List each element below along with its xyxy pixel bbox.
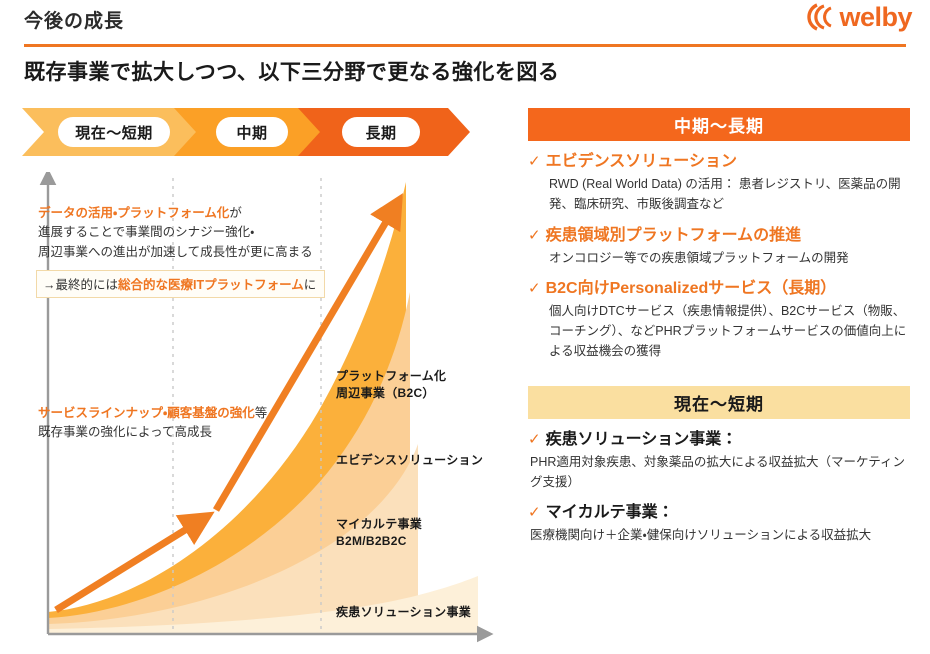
- note2-rest: 等: [255, 406, 268, 420]
- slide-subtitle: 既存事業で拡大しつつ、以下三分野で更なる強化を図る: [24, 56, 559, 86]
- note1-rest: が: [229, 206, 242, 220]
- box-prefix: →最終的には: [43, 278, 118, 292]
- layer-label-evidence: エビデンスソリューション: [336, 452, 483, 469]
- layer-label-platform-l1: プラットフォーム化: [336, 369, 446, 383]
- bullet-mykarute-body: 医療機関向け＋企業・健保向けソリューションによる収益拡大: [530, 525, 910, 545]
- chart-note-lower: サービスラインナップ・顧客基盤の強化等 既存事業の強化によって高成長: [38, 404, 298, 443]
- welby-arcs-icon: [803, 2, 837, 32]
- note1-line2: 進展することで事業間のシナジー強化・: [38, 225, 254, 239]
- page-title: 今後の成長: [24, 6, 124, 33]
- bullet-disease-solution: ✓ 疾患ソリューション事業： PHR適用対象疾患、対象薬品の拡大による収益拡大（…: [528, 430, 910, 493]
- check-icon: ✓: [528, 226, 541, 246]
- timeline-chevrons: 現在〜短期 中期 長期: [22, 108, 492, 156]
- chevron-step-2[interactable]: 長期: [298, 108, 470, 156]
- welby-wordmark: welby: [839, 4, 912, 31]
- bullet-b2c-personalized-title: B2C向けPersonalizedサービス（長期）: [546, 279, 837, 299]
- bullet-disease-platform: ✓ 疾患領域別プラットフォームの推進 オンコロジー等での疾患領域プラットフォーム…: [528, 226, 910, 268]
- bullet-evidence-title: エビデンスソリューション: [546, 152, 737, 172]
- bullet-mykarute-title: マイカルテ事業：: [546, 503, 674, 523]
- slide-root: 今後の成長 welby 既存事業で拡大しつつ、以下三分野で更なる強化を図る 現在…: [0, 0, 930, 654]
- header-rule: [24, 44, 906, 47]
- panel-spacer: [528, 362, 910, 386]
- bullet-b2c-personalized-body: 個人向けDTCサービス（疾患情報提供）、B2Cサービス（物販、コーチング）、など…: [549, 301, 910, 362]
- chevron-label-0: 現在〜短期: [58, 117, 170, 147]
- box-highlight: 総合的な医療ITプラットフォーム: [118, 278, 304, 292]
- chart-note-upper: データの活用・プラットフォーム化が 進展することで事業間のシナジー強化・ 周辺事…: [38, 204, 338, 262]
- bullet-mykarute: ✓ マイカルテ事業： 医療機関向け＋企業・健保向けソリューションによる収益拡大: [528, 503, 910, 545]
- bullet-disease-platform-title: 疾患領域別プラットフォームの推進: [546, 226, 802, 246]
- box-suffix: に: [304, 278, 317, 292]
- bullet-evidence-body: RWD (Real World Data) の活用： 患者レジストリ、医薬品の開…: [549, 174, 910, 215]
- note1-highlight: データの活用・プラットフォーム化: [38, 206, 229, 220]
- check-icon: ✓: [528, 152, 541, 172]
- layer-label-karute-l1: マイカルテ事業: [336, 517, 422, 531]
- chevron-label-1: 中期: [216, 117, 288, 147]
- bullet-evidence: ✓ エビデンスソリューション RWD (Real World Data) の活用…: [528, 152, 910, 215]
- right-panel: 中期〜長期 ✓ エビデンスソリューション RWD (Real World Dat…: [528, 108, 910, 545]
- bullet-mykarute-head: ✓ マイカルテ事業：: [528, 503, 910, 523]
- bullet-disease-platform-head: ✓ 疾患領域別プラットフォームの推進: [528, 226, 910, 246]
- check-icon: ✓: [528, 430, 541, 450]
- band-now-short-term: 現在〜短期: [528, 386, 910, 419]
- bullet-disease-solution-head: ✓ 疾患ソリューション事業：: [528, 430, 910, 450]
- bullet-b2c-personalized-head: ✓ B2C向けPersonalizedサービス（長期）: [528, 279, 910, 299]
- chart-callout-box: →最終的には総合的な医療ITプラットフォームに: [36, 270, 325, 298]
- layer-label-platform-l2: 周辺事業（B2C）: [336, 386, 435, 400]
- bullet-disease-solution-title: 疾患ソリューション事業：: [546, 430, 738, 450]
- bullet-disease-solution-body: PHR適用対象疾患、対象薬品の拡大による収益拡大（マーケティング支援）: [530, 452, 910, 493]
- layer-label-karute-l2: B2M/B2B2C: [336, 534, 407, 548]
- note2-line2: 既存事業の強化によって高成長: [38, 425, 212, 439]
- band-mid-long-term: 中期〜長期: [528, 108, 910, 141]
- check-icon: ✓: [528, 503, 541, 523]
- note1-line3: 周辺事業への進出が加速して成長性が更に高まる: [38, 245, 313, 259]
- layer-label-platform: プラットフォーム化 周辺事業（B2C）: [336, 368, 446, 403]
- note2-highlight: サービスラインナップ・顧客基盤の強化: [38, 406, 255, 420]
- growth-chart: データの活用・プラットフォーム化が 進展することで事業間のシナジー強化・ 周辺事…: [18, 172, 498, 644]
- check-icon: ✓: [528, 279, 541, 299]
- bullet-evidence-head: ✓ エビデンスソリューション: [528, 152, 910, 172]
- chevron-label-2: 長期: [342, 117, 420, 147]
- bullet-disease-platform-body: オンコロジー等での疾患領域プラットフォームの開発: [549, 248, 910, 268]
- welby-logo: welby: [803, 2, 912, 32]
- bullet-b2c-personalized: ✓ B2C向けPersonalizedサービス（長期） 個人向けDTCサービス（…: [528, 279, 910, 362]
- layer-label-karute: マイカルテ事業 B2M/B2B2C: [336, 516, 422, 551]
- layer-label-shikkan: 疾患ソリューション事業: [336, 604, 471, 621]
